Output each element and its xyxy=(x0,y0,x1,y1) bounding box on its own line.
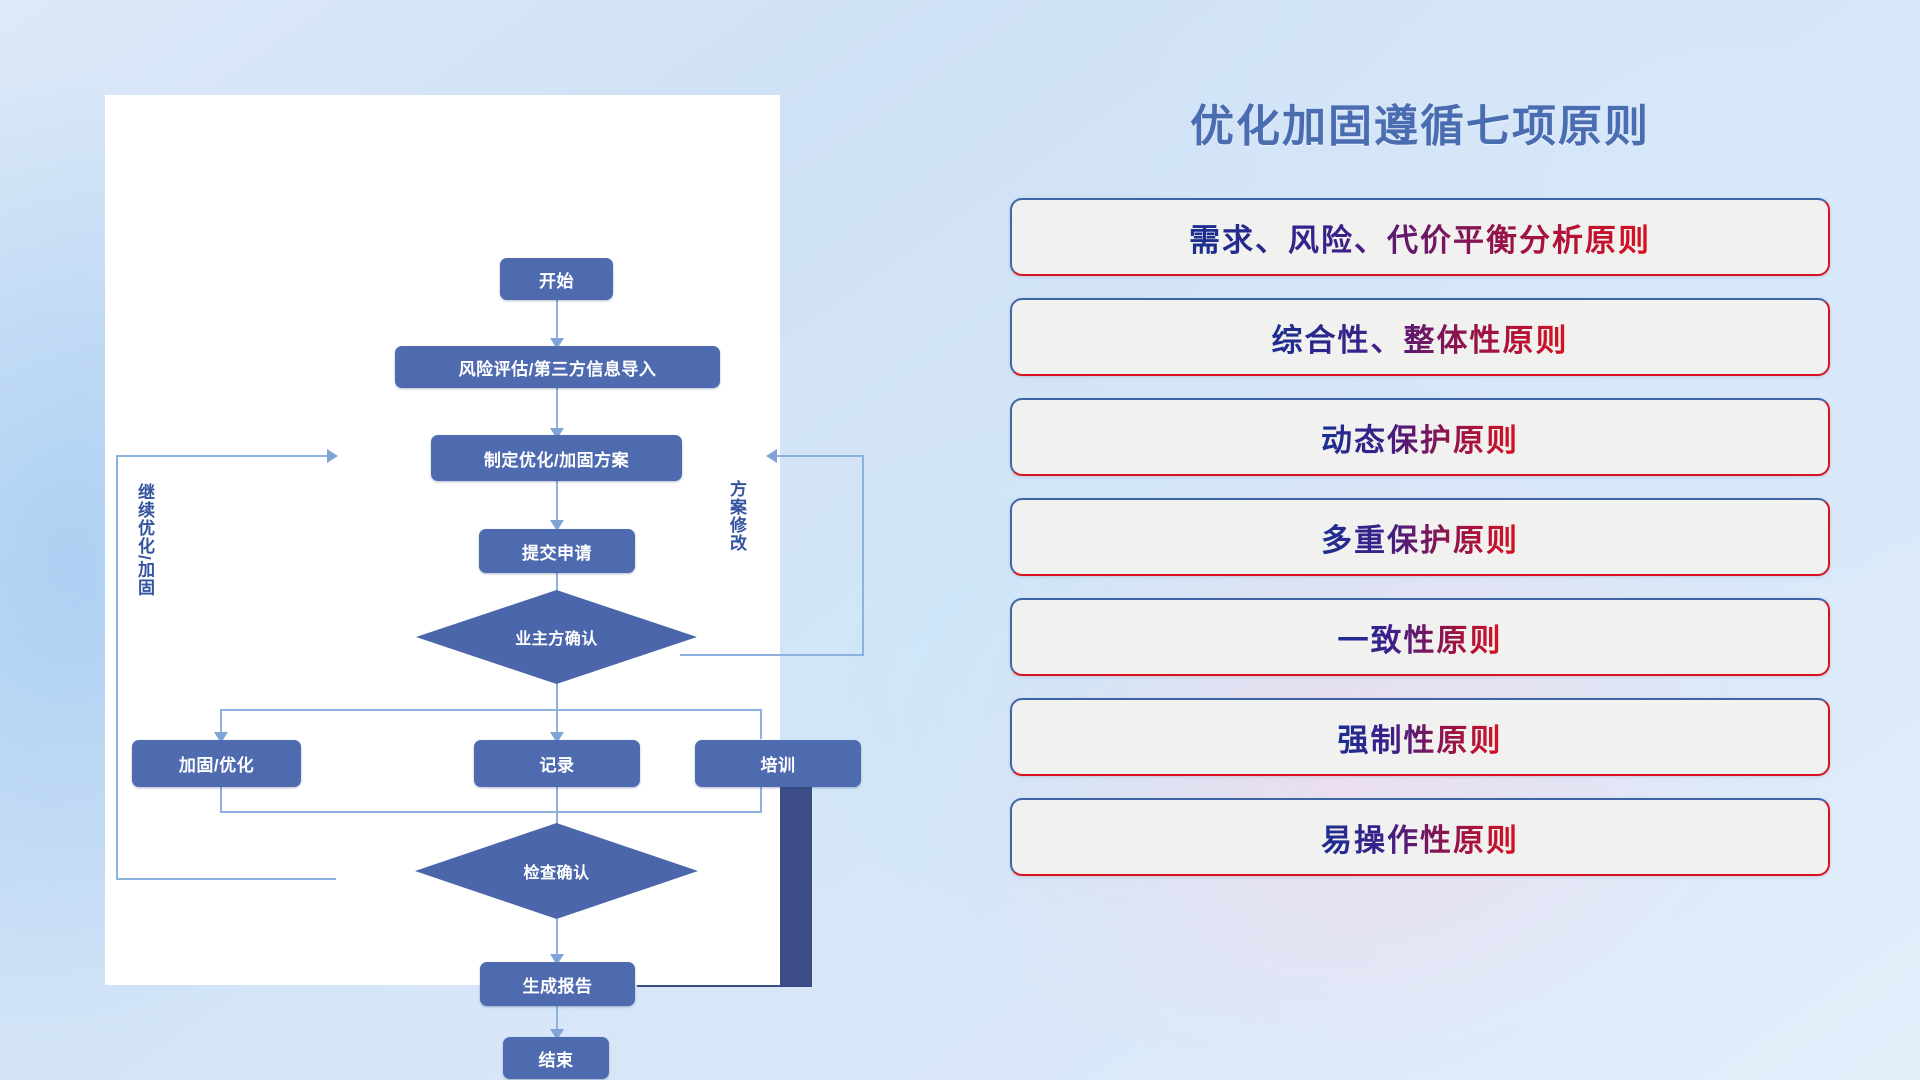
connector-right-loop-from-owner xyxy=(680,654,864,656)
connector-left-loop-vertical xyxy=(116,455,118,880)
principle-card-5[interactable]: 一致性原则 xyxy=(1010,598,1830,676)
connector-reinforce-merge xyxy=(220,787,222,813)
flow-node-reinforce[interactable]: 加固/优化 xyxy=(132,740,301,787)
principle-card-4[interactable]: 多重保护原则 xyxy=(1010,498,1830,576)
principle-card-2[interactable]: 综合性、整体性原则 xyxy=(1010,298,1830,376)
connector-fanout-bus xyxy=(220,709,760,711)
principle-card-3-label: 动态保护原则 xyxy=(1321,415,1519,460)
connector-right-loop-vertical xyxy=(862,455,864,655)
flow-node-training[interactable]: 培训 xyxy=(695,740,861,787)
arrowhead-left-loop-into-plan xyxy=(327,449,338,463)
principle-card-2-label: 综合性、整体性原则 xyxy=(1272,315,1569,360)
connector-left-loop-bottom xyxy=(116,878,336,880)
flow-edge-label-plan-revision: 方案修改 xyxy=(727,480,746,552)
connector-owner-out xyxy=(556,683,558,711)
flowchart-card: 开始 风险评估/第三方信息导入 制定优化/加固方案 提交申请 业主方确认 加固/… xyxy=(105,95,780,985)
flow-node-record-label: 记录 xyxy=(540,751,575,776)
connector-bus-train xyxy=(760,709,762,739)
flow-node-risk-assessment-label: 风险评估/第三方信息导入 xyxy=(459,355,657,380)
flow-node-report[interactable]: 生成报告 xyxy=(480,962,635,1006)
connector-merge-bus xyxy=(220,811,760,813)
flow-node-end[interactable]: 结束 xyxy=(503,1037,609,1079)
flow-node-plan-label: 制定优化/加固方案 xyxy=(484,446,629,471)
principles-panel: 优化加固遵循七项原则 需求、风险、代价平衡分析原则 综合性、整体性原则 动态保护… xyxy=(1010,90,1830,1020)
flow-edge-label-continue-optimize: 继续优化/加固 xyxy=(135,483,154,597)
flow-node-check-confirm-label: 检查确认 xyxy=(523,859,589,883)
flow-node-start[interactable]: 开始 xyxy=(500,258,613,300)
principle-card-1[interactable]: 需求、风险、代价平衡分析原则 xyxy=(1010,198,1830,276)
flow-node-end-label: 结束 xyxy=(539,1046,574,1071)
principles-list: 需求、风险、代价平衡分析原则 综合性、整体性原则 动态保护原则 多重保护原则 一… xyxy=(1010,198,1830,876)
principle-card-6-label: 强制性原则 xyxy=(1338,715,1503,760)
flow-node-start-label: 开始 xyxy=(539,267,574,292)
principle-card-1-label: 需求、风险、代价平衡分析原则 xyxy=(1189,215,1651,260)
flow-node-report-label: 生成报告 xyxy=(523,972,593,997)
arrowhead-right-loop-into-plan xyxy=(766,449,777,463)
principle-card-4-label: 多重保护原则 xyxy=(1321,515,1519,560)
principle-card-6[interactable]: 强制性原则 xyxy=(1010,698,1830,776)
page-title: 优化加固遵循七项原则 xyxy=(1010,90,1830,154)
flow-node-record[interactable]: 记录 xyxy=(474,740,640,787)
connector-right-loop-top xyxy=(777,455,863,457)
slide-root: 开始 风险评估/第三方信息导入 制定优化/加固方案 提交申请 业主方确认 加固/… xyxy=(0,0,1920,1080)
flow-node-plan[interactable]: 制定优化/加固方案 xyxy=(431,435,682,481)
principle-card-5-label: 一致性原则 xyxy=(1338,615,1503,660)
flow-node-owner-confirm[interactable]: 业主方确认 xyxy=(416,590,697,684)
principle-card-7-label: 易操作性原则 xyxy=(1321,815,1519,860)
flow-node-check-confirm[interactable]: 检查确认 xyxy=(415,823,698,919)
flow-node-training-label: 培训 xyxy=(761,751,796,776)
flow-node-risk-assessment[interactable]: 风险评估/第三方信息导入 xyxy=(395,346,720,388)
connector-left-loop-top xyxy=(116,455,330,457)
principle-card-7[interactable]: 易操作性原则 xyxy=(1010,798,1830,876)
flow-node-owner-confirm-label: 业主方确认 xyxy=(515,625,598,649)
flow-node-submit-label: 提交申请 xyxy=(522,539,592,564)
connector-train-merge xyxy=(760,787,762,813)
flow-node-reinforce-label: 加固/优化 xyxy=(179,751,254,776)
flow-node-submit[interactable]: 提交申请 xyxy=(479,529,635,573)
principle-card-3[interactable]: 动态保护原则 xyxy=(1010,398,1830,476)
